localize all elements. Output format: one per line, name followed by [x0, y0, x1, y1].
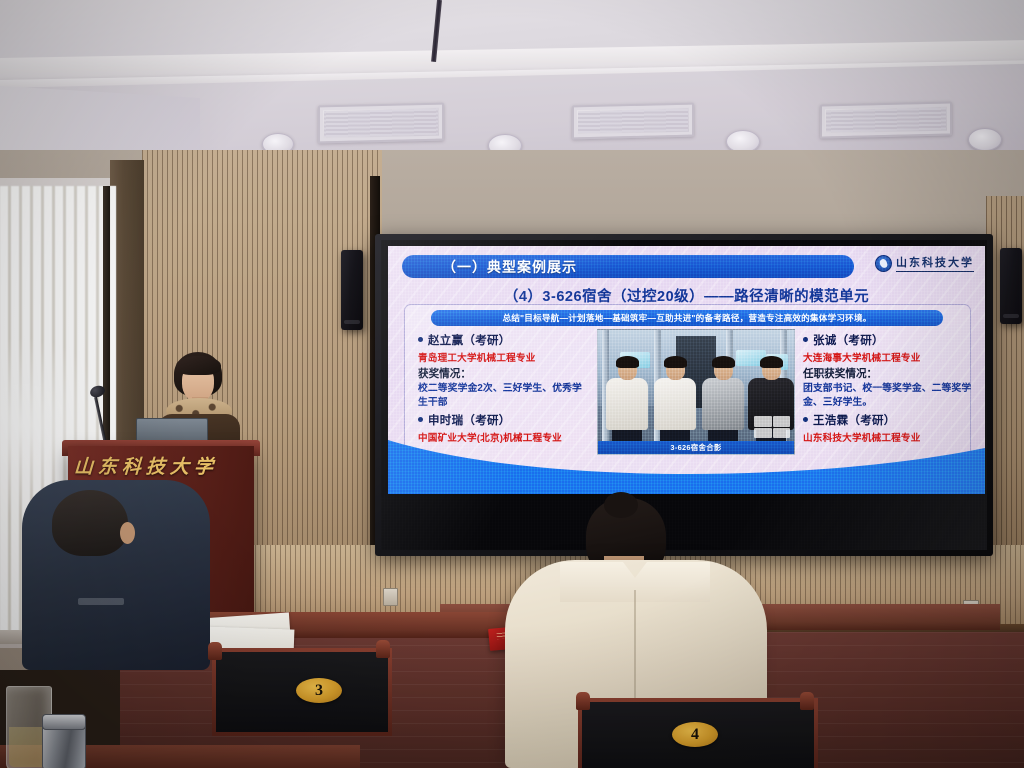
list-item: 张诚（考研）	[800, 332, 978, 348]
dorm-group-photo: 3-626宿舍合影	[597, 329, 795, 455]
wall-speaker-left	[341, 250, 363, 330]
bullet-dot-icon	[418, 417, 423, 422]
student-major: 大连海事大学机械工程专业	[803, 350, 978, 364]
university-emblem-icon	[875, 255, 892, 272]
vacuum-flask-lid[interactable]	[42, 714, 86, 730]
photo-student-head	[666, 359, 685, 380]
university-logo: 山东科技大学	[875, 254, 974, 272]
chair-finial	[376, 640, 390, 658]
photo-student-head	[714, 359, 733, 380]
awards-detail: 团支部书记、校一等奖学金、二等奖学金、三好学生。	[803, 382, 978, 409]
attendee-navy-ear	[120, 522, 135, 544]
chair-number-text: 3	[315, 682, 323, 700]
slide-left-column: 赵立赢（考研） 青岛理工大学机械工程专业 获奖情况： 校二等奖学金2次、三好学生…	[415, 332, 585, 446]
chair-finial	[800, 692, 814, 710]
bullet-dot-icon	[803, 337, 808, 342]
photo-student-body	[702, 378, 744, 430]
wall-speaker-right	[1000, 248, 1022, 324]
awards-label: 任职获奖情况：	[803, 366, 978, 381]
list-item: 赵立赢（考研）	[415, 332, 585, 348]
led-screen[interactable]: （一）典型案例展示 山东科技大学 （4）3-626宿舍（过控20级）——路径清晰…	[381, 240, 987, 550]
photo-student-hair	[760, 356, 783, 368]
student-major: 青岛理工大学机械工程专业	[418, 350, 585, 364]
ceiling-vent	[820, 102, 952, 139]
attendee-navy-head	[52, 490, 128, 556]
photo-student-hair	[616, 356, 639, 368]
photo-student	[702, 359, 744, 444]
attendee-navy-jacket-logo	[78, 598, 124, 605]
student-name: 张诚（考研）	[813, 332, 884, 348]
ceiling-vent	[572, 103, 694, 140]
awards-detail: 校二等奖学金2次、三好学生、优秀学生干部	[418, 382, 585, 409]
slide-summary-banner: 总结"目标导航—计划落地—基础筑牢—互助共进"的备考路径，营造专注高效的集体学习…	[431, 310, 943, 326]
chair-finial	[208, 642, 222, 660]
wave-shape-icon	[388, 438, 985, 494]
photo-watermark-icon	[754, 416, 790, 438]
presentation-slide: （一）典型案例展示 山东科技大学 （4）3-626宿舍（过控20级）——路径清晰…	[388, 246, 985, 494]
photo-student-hair	[664, 356, 687, 368]
conference-room-photo: （一）典型案例展示 山东科技大学 （4）3-626宿舍（过控20级）——路径清晰…	[0, 0, 1024, 768]
slide-header-bar: （一）典型案例展示	[402, 255, 854, 278]
list-item: 申时瑞（考研）	[415, 412, 585, 428]
attendee-cream-hair-bun	[604, 492, 638, 518]
photo-student-body	[654, 378, 696, 430]
university-name-text: 山东科技大学	[896, 254, 974, 272]
chair-number-text: 4	[691, 726, 699, 744]
power-outlet[interactable]	[383, 588, 398, 606]
student-name: 王浩霖（考研）	[813, 412, 896, 428]
photo-student-head	[618, 359, 637, 380]
student-name: 申时瑞（考研）	[428, 412, 511, 428]
ceiling-downlight	[968, 128, 1002, 151]
bullet-dot-icon	[418, 337, 423, 342]
chair-number-badge: 4	[672, 722, 718, 747]
awards-label: 获奖情况：	[418, 366, 585, 381]
slide-right-column: 张诚（考研） 大连海事大学机械工程专业 任职获奖情况： 团支部书记、校一等奖学金…	[800, 332, 978, 446]
list-item: 王浩霖（考研）	[800, 412, 978, 428]
slide-subtitle: （4）3-626宿舍（过控20级）——路径清晰的模范单元	[388, 285, 985, 306]
slide-summary-text: 总结"目标导航—计划落地—基础筑牢—互助共进"的备考路径，营造专注高效的集体学习…	[502, 312, 871, 324]
chair-number-badge: 3	[296, 678, 342, 703]
student-name: 赵立赢（考研）	[428, 332, 511, 348]
led-screen-dark-area	[381, 496, 987, 550]
bullet-dot-icon	[803, 417, 808, 422]
slide-wave-decoration	[388, 438, 985, 494]
photo-student	[654, 359, 696, 444]
ceiling-vent	[318, 103, 444, 144]
photo-student	[606, 359, 648, 444]
podium-engraved-text: 山东科技大学	[73, 452, 251, 482]
presenter-fringe	[176, 356, 221, 375]
chair-finial	[576, 692, 590, 710]
slide-header-title: （一）典型案例展示	[442, 257, 577, 277]
photo-student-head	[762, 359, 781, 380]
photo-student-body	[606, 378, 648, 430]
photo-student-hair	[712, 356, 735, 368]
